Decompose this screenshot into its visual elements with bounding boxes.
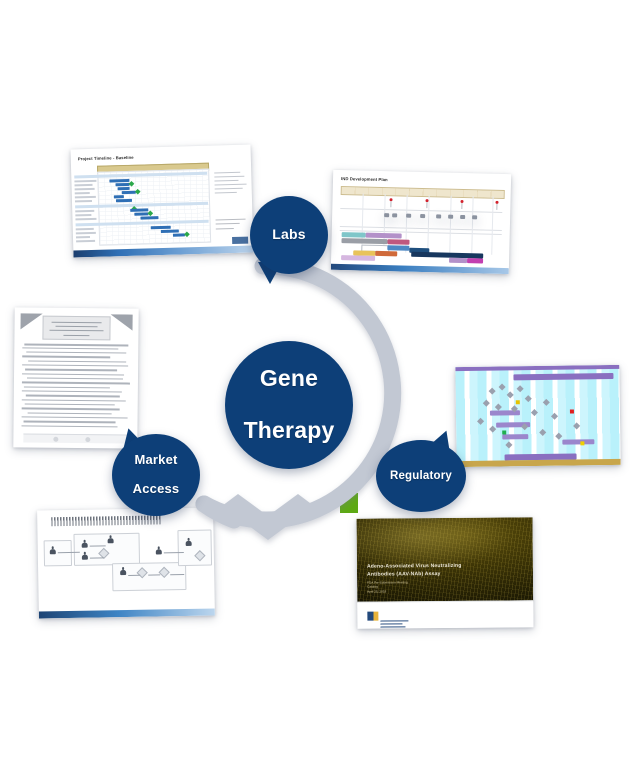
gantt-content: Project Timeline - Baseline [71, 145, 254, 258]
report-body-text [22, 343, 130, 344]
ind-title: IND Development Plan [341, 176, 388, 182]
node-labs-label: Labs [272, 227, 305, 243]
node-regulatory-label: Regulatory [390, 470, 452, 483]
slide-subtitle: FDA Pre-Submission Meeting Catalog April… [367, 580, 408, 593]
gantt-legend [214, 172, 248, 173]
node-market-access[interactable]: Market Access [112, 434, 200, 516]
slide-title: Adeno-Associated Virus Neutralizing Anti… [367, 561, 517, 578]
document-thumbnail-process-map[interactable] [455, 365, 620, 467]
report-title-box [42, 316, 110, 341]
map-content [455, 365, 620, 467]
flow-footer-bar [39, 608, 215, 618]
ind-timeline-header [341, 186, 505, 199]
document-thumbnail-gantt[interactable]: Project Timeline - Baseline [71, 145, 254, 258]
slide-logo-icon [367, 612, 378, 621]
node-market-access-label: Market Access [133, 453, 180, 497]
gantt-logo [232, 237, 248, 244]
node-center-label: Gene Therapy [244, 366, 335, 443]
node-labs[interactable]: Labs [250, 196, 328, 274]
node-regulatory[interactable]: Regulatory [376, 440, 466, 512]
node-center-gene-therapy[interactable]: Gene Therapy [225, 341, 353, 469]
diagram-canvas: Project Timeline - Baseline [0, 0, 630, 781]
report-footer [23, 433, 127, 443]
gantt-title: Project Timeline - Baseline [78, 155, 134, 162]
